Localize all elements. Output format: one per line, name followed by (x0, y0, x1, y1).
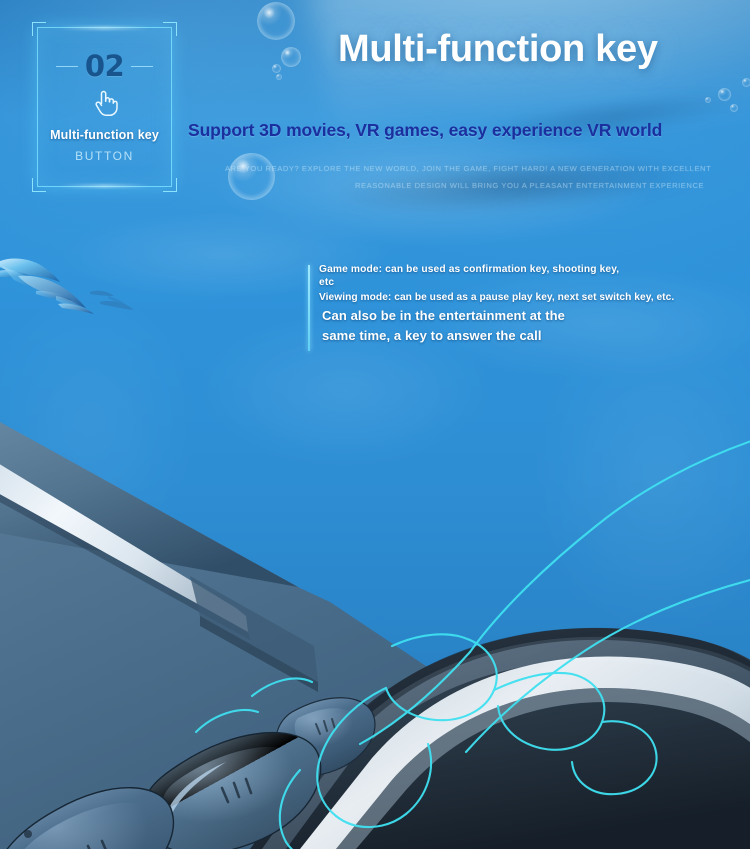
badge-icon-wrap (38, 86, 171, 120)
corner-bracket-icon (163, 22, 177, 36)
page-subtitle: Support 3D movies, VR games, easy experi… (188, 120, 662, 141)
corner-bracket-icon (32, 178, 46, 192)
feature-line-2: etc (319, 276, 720, 289)
section-badge-card: 02 Multi-function key BUTTON (37, 27, 172, 187)
bubble-icon (705, 97, 711, 103)
vr-headset-illustration (0, 340, 750, 849)
badge-glow-bottom (59, 185, 149, 187)
bubble-icon (281, 47, 301, 67)
promo-banner: 02 Multi-function key BUTTON Multi-funct… (0, 0, 750, 849)
page-title: Multi-function key (338, 28, 658, 71)
watermark-text-line2: REASONABLE DESIGN WILL BRING YOU A PLEAS… (355, 181, 704, 190)
feature-lines: Game mode: can be used as confirmation k… (308, 263, 720, 344)
product-photo (0, 340, 750, 849)
corner-bracket-icon (163, 178, 177, 192)
bubble-icon (718, 88, 731, 101)
sensor-dot-icon (24, 830, 32, 838)
bubble-icon (730, 104, 738, 112)
bubble-icon (228, 153, 275, 200)
badge-glow-top (59, 27, 149, 29)
feature-line-4: Can also be in the entertainment at the (322, 308, 720, 325)
watermark-text-line1: ARE YOU READY? EXPLORE THE NEW WORLD, JO… (225, 164, 711, 173)
feature-line-3: Viewing mode: can be used as a pause pla… (319, 290, 720, 305)
badge-number: 02 (85, 52, 124, 81)
bubble-icon (272, 64, 281, 73)
dolphins-icon (0, 246, 171, 338)
feature-text-block: Game mode: can be used as confirmation k… (308, 263, 720, 344)
badge-title: Multi-function key (38, 128, 171, 142)
bubble-icon (742, 78, 750, 87)
rule-left-icon (56, 66, 78, 67)
badge-number-row: 02 (38, 52, 171, 81)
pointing-hand-icon (88, 86, 122, 120)
feature-line-1: Game mode: can be used as confirmation k… (319, 263, 720, 276)
badge-subtitle: BUTTON (38, 149, 171, 163)
bubble-icon (257, 2, 295, 40)
rule-right-icon (131, 66, 153, 67)
feature-accent-bar (308, 265, 310, 351)
bubble-icon (276, 74, 282, 80)
corner-bracket-icon (32, 22, 46, 36)
